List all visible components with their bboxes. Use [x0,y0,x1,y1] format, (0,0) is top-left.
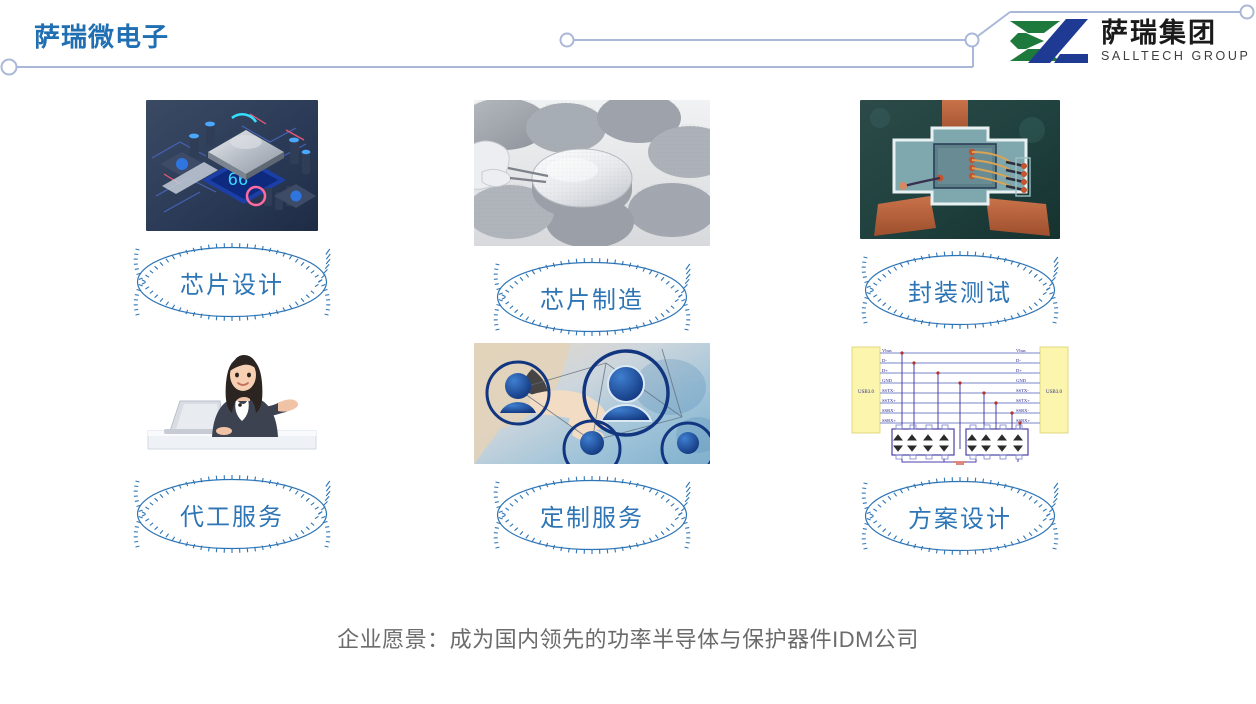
capability-label-badge: 封装测试 [850,251,1070,329]
capability-label-badge: 芯片制造 [482,258,702,336]
silicon-wafer-image [474,100,710,246]
svg-text:D-: D- [1016,358,1021,363]
usb3-esd-schematic-image: USB3.0 USB3.0 VbusD-D+GND SSTX-SSTX+SSRX… [844,343,1076,465]
capability-label-badge: 方案设计 [850,477,1070,555]
svg-text:SSTX-: SSTX- [882,388,895,393]
capability-label: 方案设计 [850,477,1070,555]
businesswoman-laptop-image [132,343,332,463]
capability-label: 代工服务 [122,475,342,553]
svg-text:SSTX-: SSTX- [1016,388,1029,393]
capability-card-custom-service[interactable]: 定制服务 [432,343,752,554]
chip-design-image: 66 [146,100,318,231]
capability-label: 芯片设计 [122,243,342,321]
capability-label-badge: 定制服务 [482,476,702,554]
svg-text:GND: GND [882,378,893,383]
wire-bonding-die-image [860,100,1060,239]
company-logo: 萨瑞集团 SALLTECH GROUP [1004,12,1248,70]
svg-text:GND: GND [1016,378,1027,383]
capability-grid: 66 [0,100,1256,580]
svg-text:SSTX+: SSTX+ [882,398,896,403]
svg-text:D+: D+ [882,368,888,373]
svg-text:SSRX+: SSRX+ [882,418,896,423]
logo-text-block: 萨瑞集团 SALLTECH GROUP [1101,20,1250,63]
capability-label: 封装测试 [850,251,1070,329]
logo-chinese-name: 萨瑞集团 [1101,20,1250,47]
capability-card-packaging-test[interactable]: 封装测试 [800,100,1120,329]
capability-label-badge: 芯片设计 [122,243,342,321]
salltech-logo-mark-icon [1004,16,1092,66]
capability-label: 定制服务 [482,476,702,554]
vision-statement: 企业愿景：成为国内领先的功率半导体与保护器件IDM公司 [0,622,1256,654]
capability-card-chip-manufacturing[interactable]: 芯片制造 [432,100,752,336]
svg-text:SSRX-: SSRX- [882,408,895,413]
capability-label: 芯片制造 [482,258,702,336]
svg-text:SSRX+: SSRX+ [1016,418,1030,423]
svg-text:SSTX+: SSTX+ [1016,398,1030,403]
svg-text:Vbus: Vbus [882,348,892,353]
svg-text:SSRX-: SSRX- [1016,408,1029,413]
svg-text:USB3.0: USB3.0 [858,390,874,395]
svg-text:D-: D- [882,358,887,363]
svg-text:USB3.0: USB3.0 [1046,390,1062,395]
network-touch-interface-image [474,343,710,464]
capability-card-solution-design[interactable]: USB3.0 USB3.0 VbusD-D+GND SSTX-SSTX+SSRX… [800,343,1120,555]
page-title: 萨瑞微电子 [34,17,169,54]
capability-card-chip-design[interactable]: 66 [72,100,392,321]
svg-text:D+: D+ [1016,368,1022,373]
page-header: 萨瑞微电子 萨瑞集团 SALLTECH GROUP [0,0,1256,90]
capability-card-foundry-service[interactable]: 代工服务 [72,343,392,553]
logo-english-name: SALLTECH GROUP [1101,50,1250,63]
capability-label-badge: 代工服务 [122,475,342,553]
svg-text:Vbus: Vbus [1016,348,1026,353]
